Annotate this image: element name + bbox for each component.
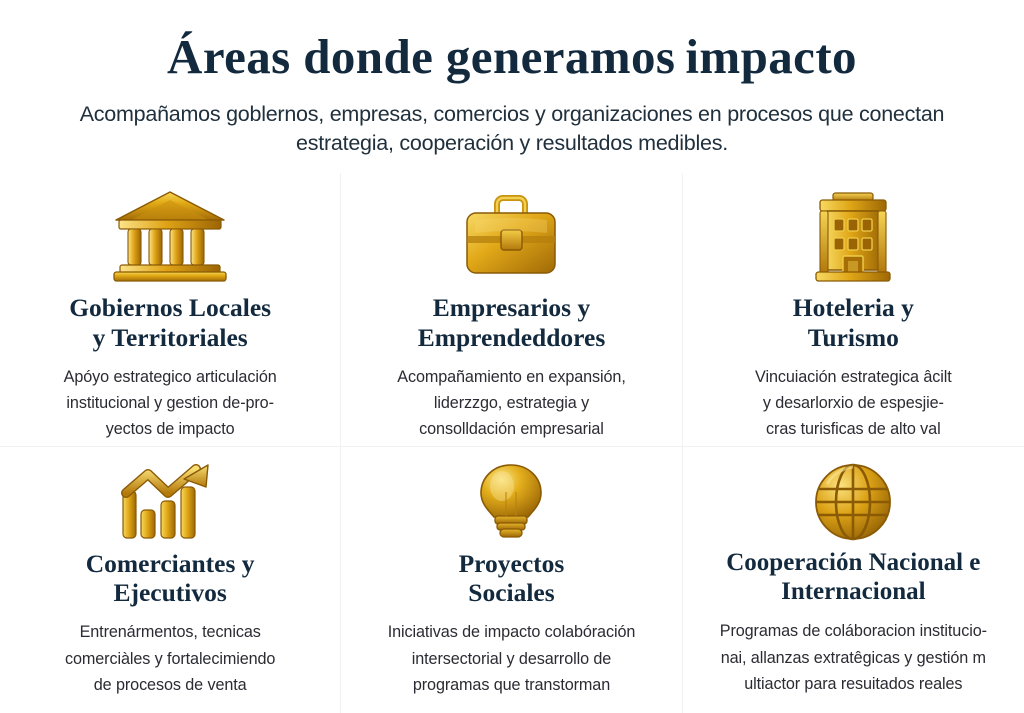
hotel-building-icon <box>811 187 895 285</box>
card-desc-line1: Programas de coláboracion institucio- <box>720 622 987 640</box>
card-description: Programas de coláboracion institucio- na… <box>720 618 987 697</box>
card-cooperacion-nacional-internacional[interactable]: Cooperación Nacional e Internacional Pro… <box>683 447 1024 713</box>
card-desc-line1: Entrenármentos, tecnicas <box>80 623 261 641</box>
briefcase-icon <box>459 187 563 285</box>
card-desc-line2: intersectorial y desarrollo de <box>412 650 611 668</box>
card-desc-line3: yectos de impacto <box>106 420 235 438</box>
bank-columns-icon <box>111 187 229 285</box>
card-desc-line2: nai, allanzas extratêgicas y gestión m <box>721 649 986 667</box>
card-title-line1: Empresarios y <box>433 293 590 322</box>
impact-areas-page: Áreas donde generamosimpacto Acompañamos… <box>0 0 1024 713</box>
card-title-line2: y Territoriales <box>93 323 248 352</box>
card-hoteleria-turismo[interactable]: Hoteleria y Turismo Vincuiación estrateg… <box>683 173 1024 447</box>
globe-icon <box>813 461 893 543</box>
card-description: Iniciativas de impacto colabóración inte… <box>388 619 636 698</box>
page-header: Áreas donde generamosimpacto Acompañamos… <box>0 0 1024 157</box>
impact-areas-grid: Gobiernos Locales y Territoriales Apóyo … <box>0 173 1024 713</box>
card-title-line1: Proyectos <box>459 549 565 578</box>
lightbulb-icon <box>475 461 547 543</box>
card-gobiernos-locales[interactable]: Gobiernos Locales y Territoriales Apóyo … <box>0 173 341 447</box>
card-empresarios-emprendedores[interactable]: Empresarios y Emprendeddores Acompañamie… <box>341 173 682 447</box>
card-title-line1: Cooperación Nacional e <box>726 549 980 576</box>
card-desc-line3: programas que transtorman <box>413 676 610 694</box>
card-title: Comerciantes y Ejecutivos <box>86 549 255 607</box>
card-title: Gobiernos Locales y Territoriales <box>69 293 271 351</box>
card-desc-line2: comerciàles y fortalecimiendo <box>65 650 275 668</box>
card-title: Empresarios y Emprendeddores <box>418 293 606 351</box>
card-title-line2: Emprendeddores <box>418 323 606 352</box>
card-title-line1: Comerciantes y <box>86 549 255 578</box>
card-title-line1: Gobiernos Locales <box>69 293 271 322</box>
card-comerciantes-ejecutivos[interactable]: Comerciantes y Ejecutivos Entrenármentos… <box>0 447 341 713</box>
card-title-line2: Sociales <box>468 578 554 607</box>
card-description: Entrenármentos, tecnicas comerciàles y f… <box>65 619 275 698</box>
card-desc-line3: consolldación empresarial <box>419 420 604 438</box>
card-desc-line1: Acompañamiento en expansión, <box>397 368 625 386</box>
card-description: Apóyo estrategico articulación instituci… <box>64 364 277 443</box>
card-title: Hoteleria y Turismo <box>793 293 914 351</box>
page-title-part1: Áreas donde generamos <box>167 29 675 84</box>
card-desc-line1: Vincuiación estrategica âcilt <box>755 368 952 386</box>
card-desc-line2: y desarlorxio de espesjie- <box>763 394 944 412</box>
card-title: Proyectos Sociales <box>459 549 565 607</box>
card-title-line2: Ejecutivos <box>113 578 226 607</box>
card-desc-line1: Apóyo estrategico articulación <box>64 368 277 386</box>
page-title-part2: impacto <box>685 29 857 84</box>
card-title-line2: Turismo <box>808 323 899 352</box>
card-desc-line2: institucional y gestion de-pro- <box>66 394 273 412</box>
card-proyectos-sociales[interactable]: Proyectos Sociales Iniciativas de impact… <box>341 447 682 713</box>
card-desc-line3: cras turisficas de alto val <box>766 420 941 438</box>
growth-chart-icon <box>120 461 220 543</box>
page-title: Áreas donde generamosimpacto <box>26 30 998 85</box>
card-desc-line3: de procesos de venta <box>94 676 247 694</box>
card-desc-line2: liderzzgo, estrategia y <box>434 394 589 412</box>
card-title-line1: Hoteleria y <box>793 293 914 322</box>
card-title: Cooperación Nacional e Internacional <box>726 549 980 606</box>
card-desc-line3: ultiactor para resuitados reales <box>744 675 962 693</box>
card-title-line2: Internacional <box>781 578 925 605</box>
page-subtitle: Acompañamos goblernos, empresas, comerci… <box>47 100 977 158</box>
card-description: Acompañamiento en expansión, liderzzgo, … <box>397 364 625 443</box>
card-desc-line1: Iniciativas de impacto colabóración <box>388 623 636 641</box>
card-description: Vincuiación estrategica âcilt y desarlor… <box>755 364 952 443</box>
